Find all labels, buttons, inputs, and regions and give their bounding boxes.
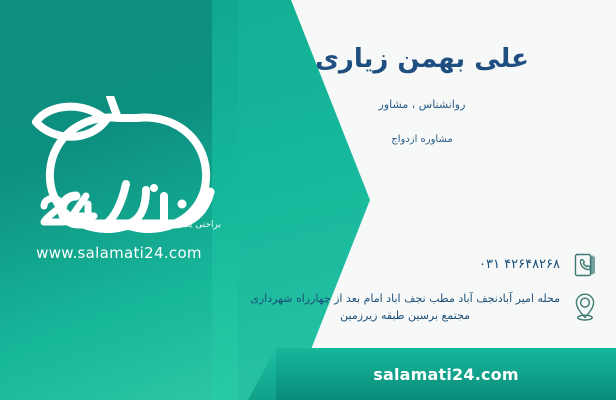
address-row: محله امیر آبادنجف آباد مطب نجف اباد امام… [250,290,600,324]
phone-number[interactable]: ۴۲۶۴۸۲۶۸ ۰۳۱ [473,255,560,275]
person-specialty: مشاوره ازدواج [252,134,592,145]
address-line-2: مجتمع برسین طبقه زیرزمین [250,307,560,324]
person-role: روانشناس ، مشاور [252,98,592,111]
footer: salamati24.com [0,348,616,400]
business-card: براحتی یک لبخند www.salamati24.com علی ب… [0,0,616,400]
brand-logo-url[interactable]: www.salamati24.com [14,244,224,262]
brand-logo: براحتی یک لبخند www.salamati24.com [14,96,239,271]
address-line-1: محله امیر آبادنجف آباد مطب نجف اباد امام… [250,290,560,307]
address-text: محله امیر آبادنجف آباد مطب نجف اباد امام… [250,290,560,324]
location-pin-icon [570,290,600,324]
footer-website-url[interactable]: salamati24.com [276,348,616,400]
brand-tagline: براحتی یک لبخند [160,220,221,230]
person-name: علی بهمن زیاری [252,44,592,74]
phone-row: ۴۲۶۴۸۲۶۸ ۰۳۱ [473,248,600,282]
card-details: علی بهمن زیاری روانشناس ، مشاور مشاوره ا… [236,0,616,400]
phone-book-icon [570,248,600,282]
